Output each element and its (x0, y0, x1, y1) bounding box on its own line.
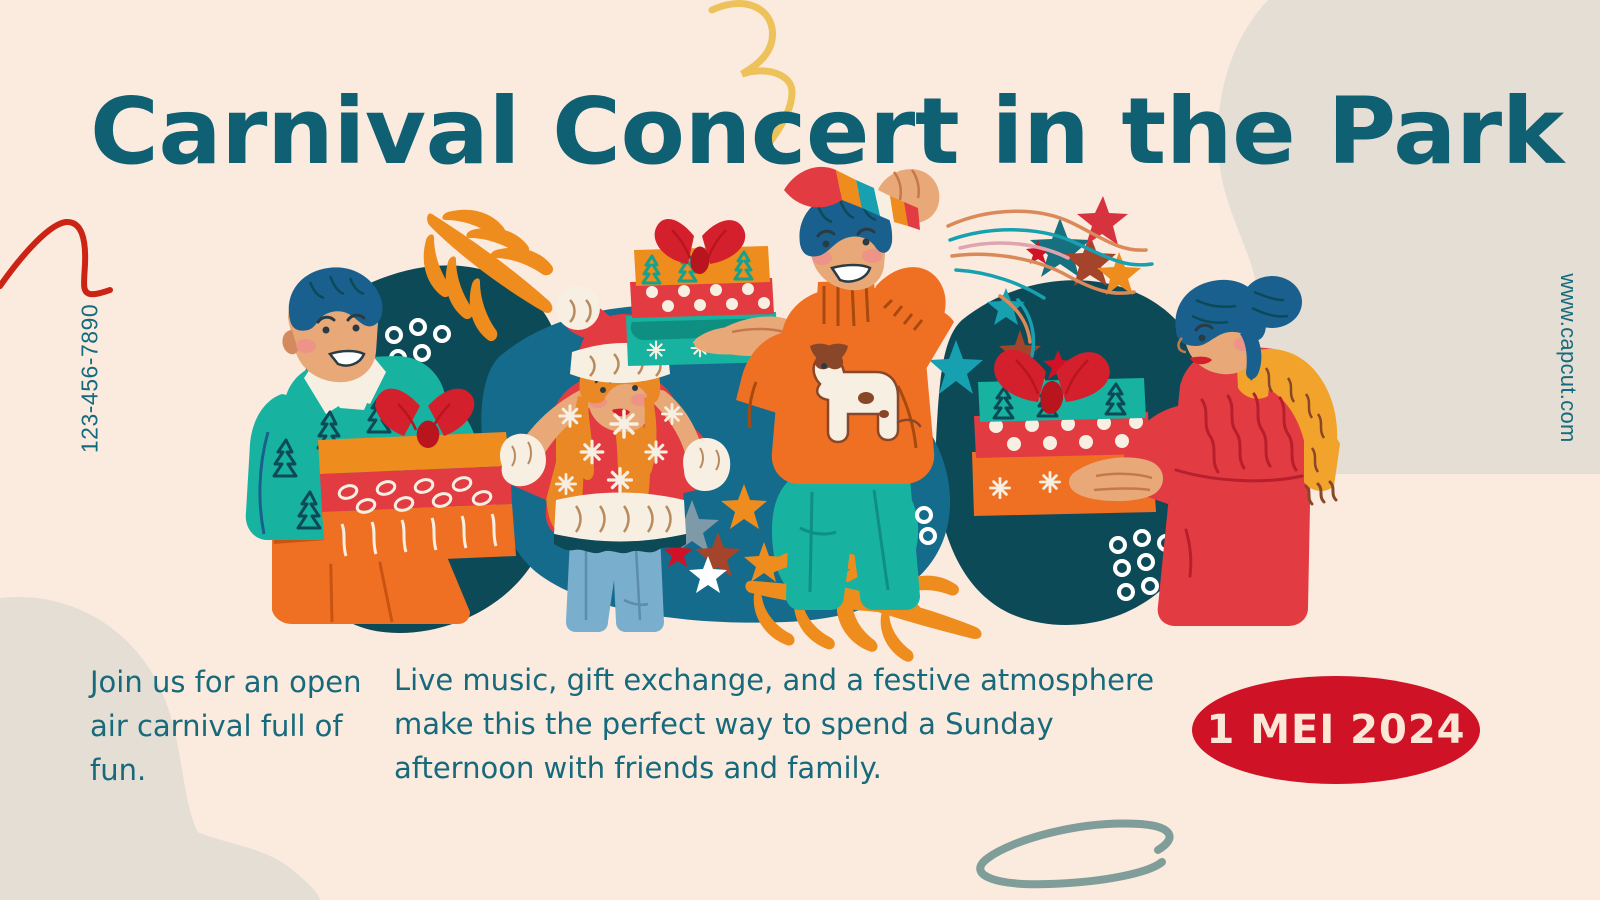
poster-canvas: Carnival Concert in the Park 123-456-789… (0, 0, 1600, 900)
left-blurb-text: Join us for an open air carnival full of… (90, 660, 380, 792)
phone-number[interactable]: 123-456-7890 (77, 284, 104, 474)
event-date-badge[interactable]: 1 MEI 2024 (1192, 676, 1480, 784)
page-title: Carnival Concert in the Park (90, 86, 1538, 178)
main-blurb-text: Live music, gift exchange, and a festive… (394, 658, 1164, 790)
event-date-label: 1 MEI 2024 (1206, 707, 1465, 753)
website-url[interactable]: www.capcut.com (1555, 258, 1581, 458)
